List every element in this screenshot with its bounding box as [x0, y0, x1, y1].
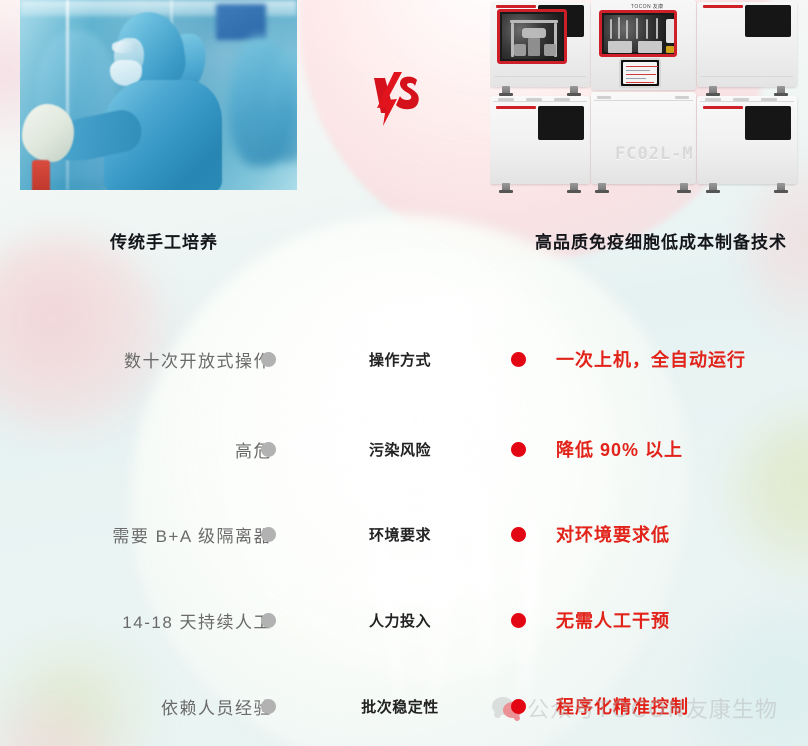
table-row: 需要 B+A 级隔离器 环境要求 对环境要求低	[0, 513, 808, 555]
vs-icon	[371, 66, 423, 130]
column-header-traditional: 传统手工培养	[110, 228, 218, 253]
gray-bullet-icon	[261, 527, 276, 542]
row-left-value: 依赖人员经验	[161, 685, 272, 727]
gray-bullet-icon	[261, 442, 276, 457]
machine-foot	[680, 183, 688, 193]
watermark-brand-cn: 友康生物	[686, 697, 778, 722]
machine-foot	[570, 86, 578, 96]
photo-worker-goggles	[112, 41, 138, 53]
red-bullet-icon	[511, 352, 526, 367]
photo-worker-glove	[22, 104, 74, 162]
row-right-value: 对环境要求低	[556, 513, 670, 555]
manual-culture-photo	[20, 0, 297, 190]
machine-screen-content	[623, 62, 657, 84]
machine-dark-panel	[745, 5, 791, 37]
comparison-table: 数十次开放式操作 操作方式 一次上机，全自动运行 高危 污染风险 降低 90% …	[0, 300, 808, 746]
photo-glass-edge	[66, 0, 69, 190]
machine-right-bottom-module	[697, 96, 797, 184]
machine-center-bottom-module: FC02L-M	[591, 92, 696, 184]
watermark-text: 公众号TOCON友康生物	[527, 692, 778, 724]
row-right-value: 一次上机，全自动运行	[556, 338, 746, 380]
machine-window-interior	[502, 14, 562, 59]
row-category-label: 批次稳定性	[330, 685, 470, 727]
machine-foot	[709, 86, 717, 96]
machine-red-accent	[703, 106, 743, 109]
row-right-value: 无需人工干预	[556, 599, 670, 641]
column-headers: 传统手工培养 高品质免疫细胞低成本制备技术	[0, 228, 808, 262]
watermark-prefix: 公众号	[527, 697, 596, 722]
automated-machine-photo: TOCON 友康	[490, 0, 808, 195]
red-bullet-icon	[511, 613, 526, 628]
machine-foot	[777, 183, 785, 193]
machine-dark-panel	[745, 106, 791, 140]
row-category-label: 人力投入	[330, 599, 470, 641]
table-row: 14-18 天持续人工 人力投入 无需人工干预	[0, 599, 808, 641]
machine-foot	[502, 86, 510, 96]
machine-red-accent	[703, 5, 743, 8]
machine-red-accent	[496, 5, 536, 8]
row-category-label: 环境要求	[330, 513, 470, 555]
wechat-bubble-small	[503, 702, 522, 718]
table-row: 高危 污染风险 降低 90% 以上	[0, 428, 808, 470]
machine-left-bottom-module	[490, 96, 590, 184]
machine-dark-panel	[538, 106, 584, 140]
gray-bullet-icon	[261, 699, 276, 714]
machine-foot	[777, 86, 785, 96]
row-left-value: 需要 B+A 级隔离器	[112, 513, 272, 555]
table-row: 数十次开放式操作 操作方式 一次上机，全自动运行	[0, 338, 808, 380]
machine-view-window	[497, 9, 567, 64]
machine-window-interior	[604, 15, 672, 52]
machine-foot	[502, 183, 510, 193]
red-bullet-icon	[511, 442, 526, 457]
row-category-label: 污染风险	[330, 428, 470, 470]
machine-foot	[709, 183, 717, 193]
red-bullet-icon	[511, 527, 526, 542]
watermark-brand-latin: TOCON	[596, 698, 686, 723]
wechat-icon	[492, 697, 522, 719]
machine-model-label: FC02L-M	[615, 144, 694, 164]
machine-red-accent	[496, 106, 536, 109]
machine-right-top-module	[697, 2, 797, 87]
media-comparison-row: TOCON 友康	[0, 0, 808, 200]
photo-foreground-worker	[98, 8, 226, 190]
machine-left-top-module	[490, 2, 590, 87]
row-left-value: 14-18 天持续人工	[122, 599, 272, 641]
machine-center-top-module: TOCON 友康	[591, 0, 696, 90]
photo-red-object	[32, 160, 50, 190]
row-right-value: 降低 90% 以上	[556, 428, 683, 470]
gray-bullet-icon	[261, 613, 276, 628]
machine-foot	[598, 183, 606, 193]
machine-view-window	[599, 10, 677, 57]
row-left-value: 数十次开放式操作	[124, 338, 272, 380]
column-header-automated: 高品质免疫细胞低成本制备技术	[535, 228, 787, 253]
gray-bullet-icon	[261, 352, 276, 367]
machine-control-screen[interactable]	[619, 58, 661, 88]
wechat-watermark: 公众号TOCON友康生物	[492, 692, 778, 724]
machine-brand-label: TOCON 友康	[631, 3, 664, 10]
row-category-label: 操作方式	[330, 338, 470, 380]
machine-foot	[570, 183, 578, 193]
